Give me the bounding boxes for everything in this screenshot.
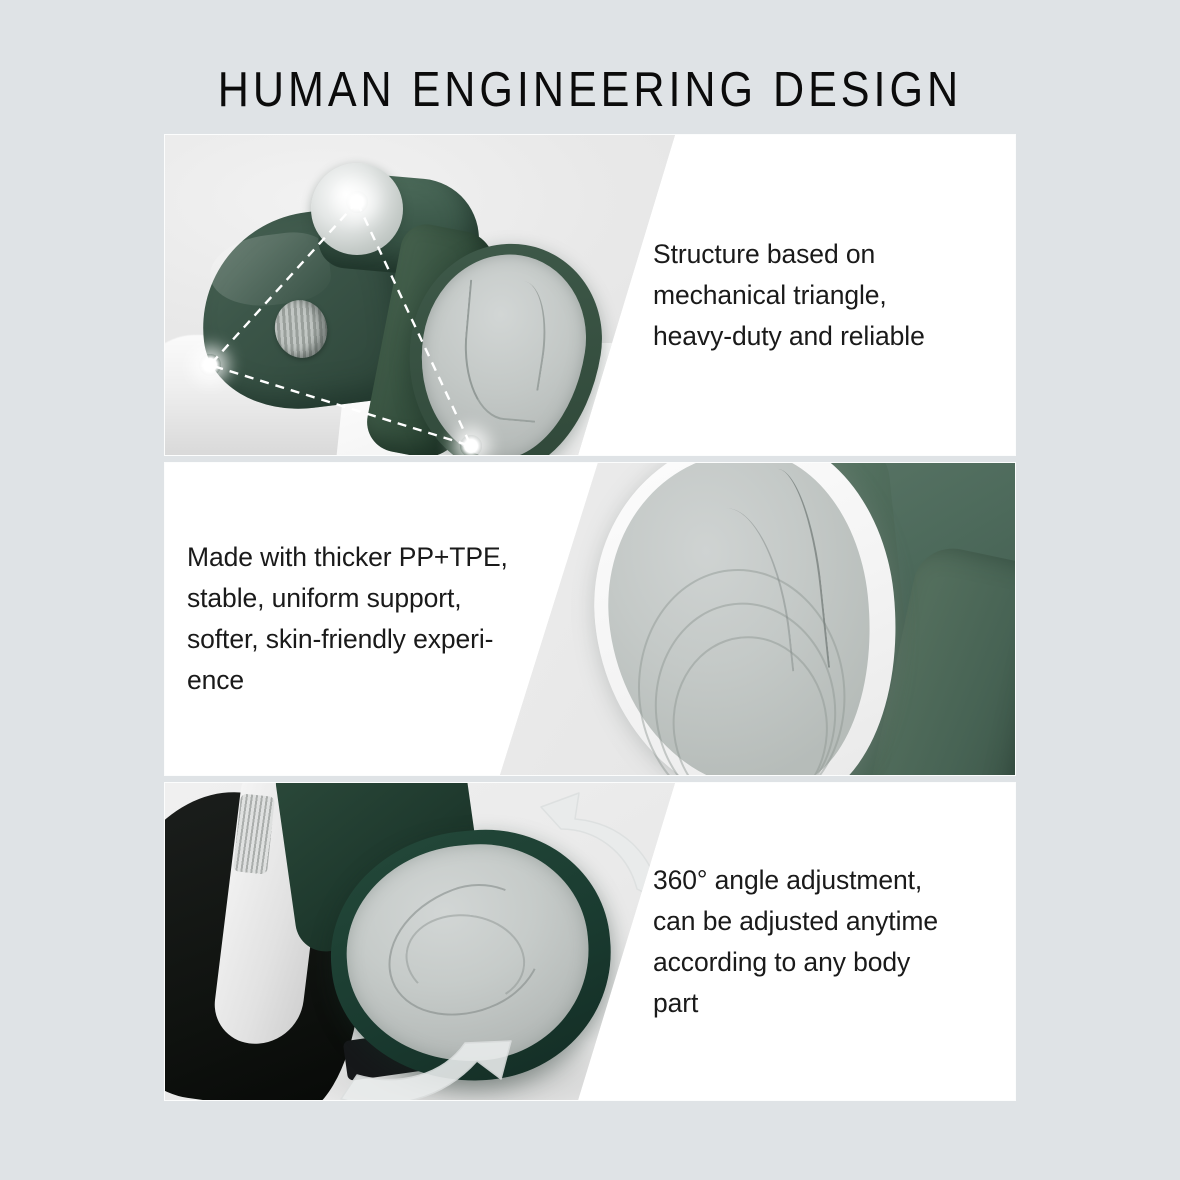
- mechanical-triangle-annotation: [165, 135, 675, 455]
- feature-line: softer, skin-friendly experi-: [187, 619, 545, 660]
- triangle-vertex-dot-bottom: [460, 435, 482, 455]
- feature-line: stable, uniform support,: [187, 578, 545, 619]
- feature-copy-structure: Structure based on mechanical triangle, …: [625, 135, 1015, 455]
- page-title: HUMAN ENGINEERING DESIGN: [218, 62, 962, 118]
- feature-line: Structure based on: [653, 234, 979, 275]
- feature-line: 360° angle adjustment,: [653, 860, 979, 901]
- feature-copy-adjustment: 360° angle adjustment, can be adjusted a…: [625, 783, 1015, 1100]
- feature-panel-material: Made with thicker PP+TPE, stable, unifor…: [165, 463, 1015, 775]
- feature-line: part: [653, 983, 979, 1024]
- tpe-pad-cushion: [593, 463, 887, 775]
- feature-panel-structure: Structure based on mechanical triangle, …: [165, 135, 1015, 455]
- feature-line: heavy-duty and reliable: [653, 316, 979, 357]
- rotation-arrow-counterclockwise-icon: [325, 1013, 515, 1100]
- feature-copy-material: Made with thicker PP+TPE, stable, unifor…: [165, 463, 565, 775]
- product-photo-material: [500, 463, 1015, 775]
- triangle-vertex-dot-top: [346, 191, 368, 213]
- feature-line: according to any body: [653, 942, 979, 983]
- feature-line: Made with thicker PP+TPE,: [187, 537, 545, 578]
- product-photo-adjustment: [165, 783, 675, 1100]
- product-photo-structure: [165, 135, 675, 455]
- page-header: HUMAN ENGINEERING DESIGN: [0, 62, 1180, 118]
- feature-line: ence: [187, 660, 545, 701]
- feature-panel-adjustment: 360° angle adjustment, can be adjusted a…: [165, 783, 1015, 1100]
- triangle-vertex-dot-left: [199, 354, 221, 376]
- feature-line: can be adjusted anytime: [653, 901, 979, 942]
- feature-line: mechanical triangle,: [653, 275, 979, 316]
